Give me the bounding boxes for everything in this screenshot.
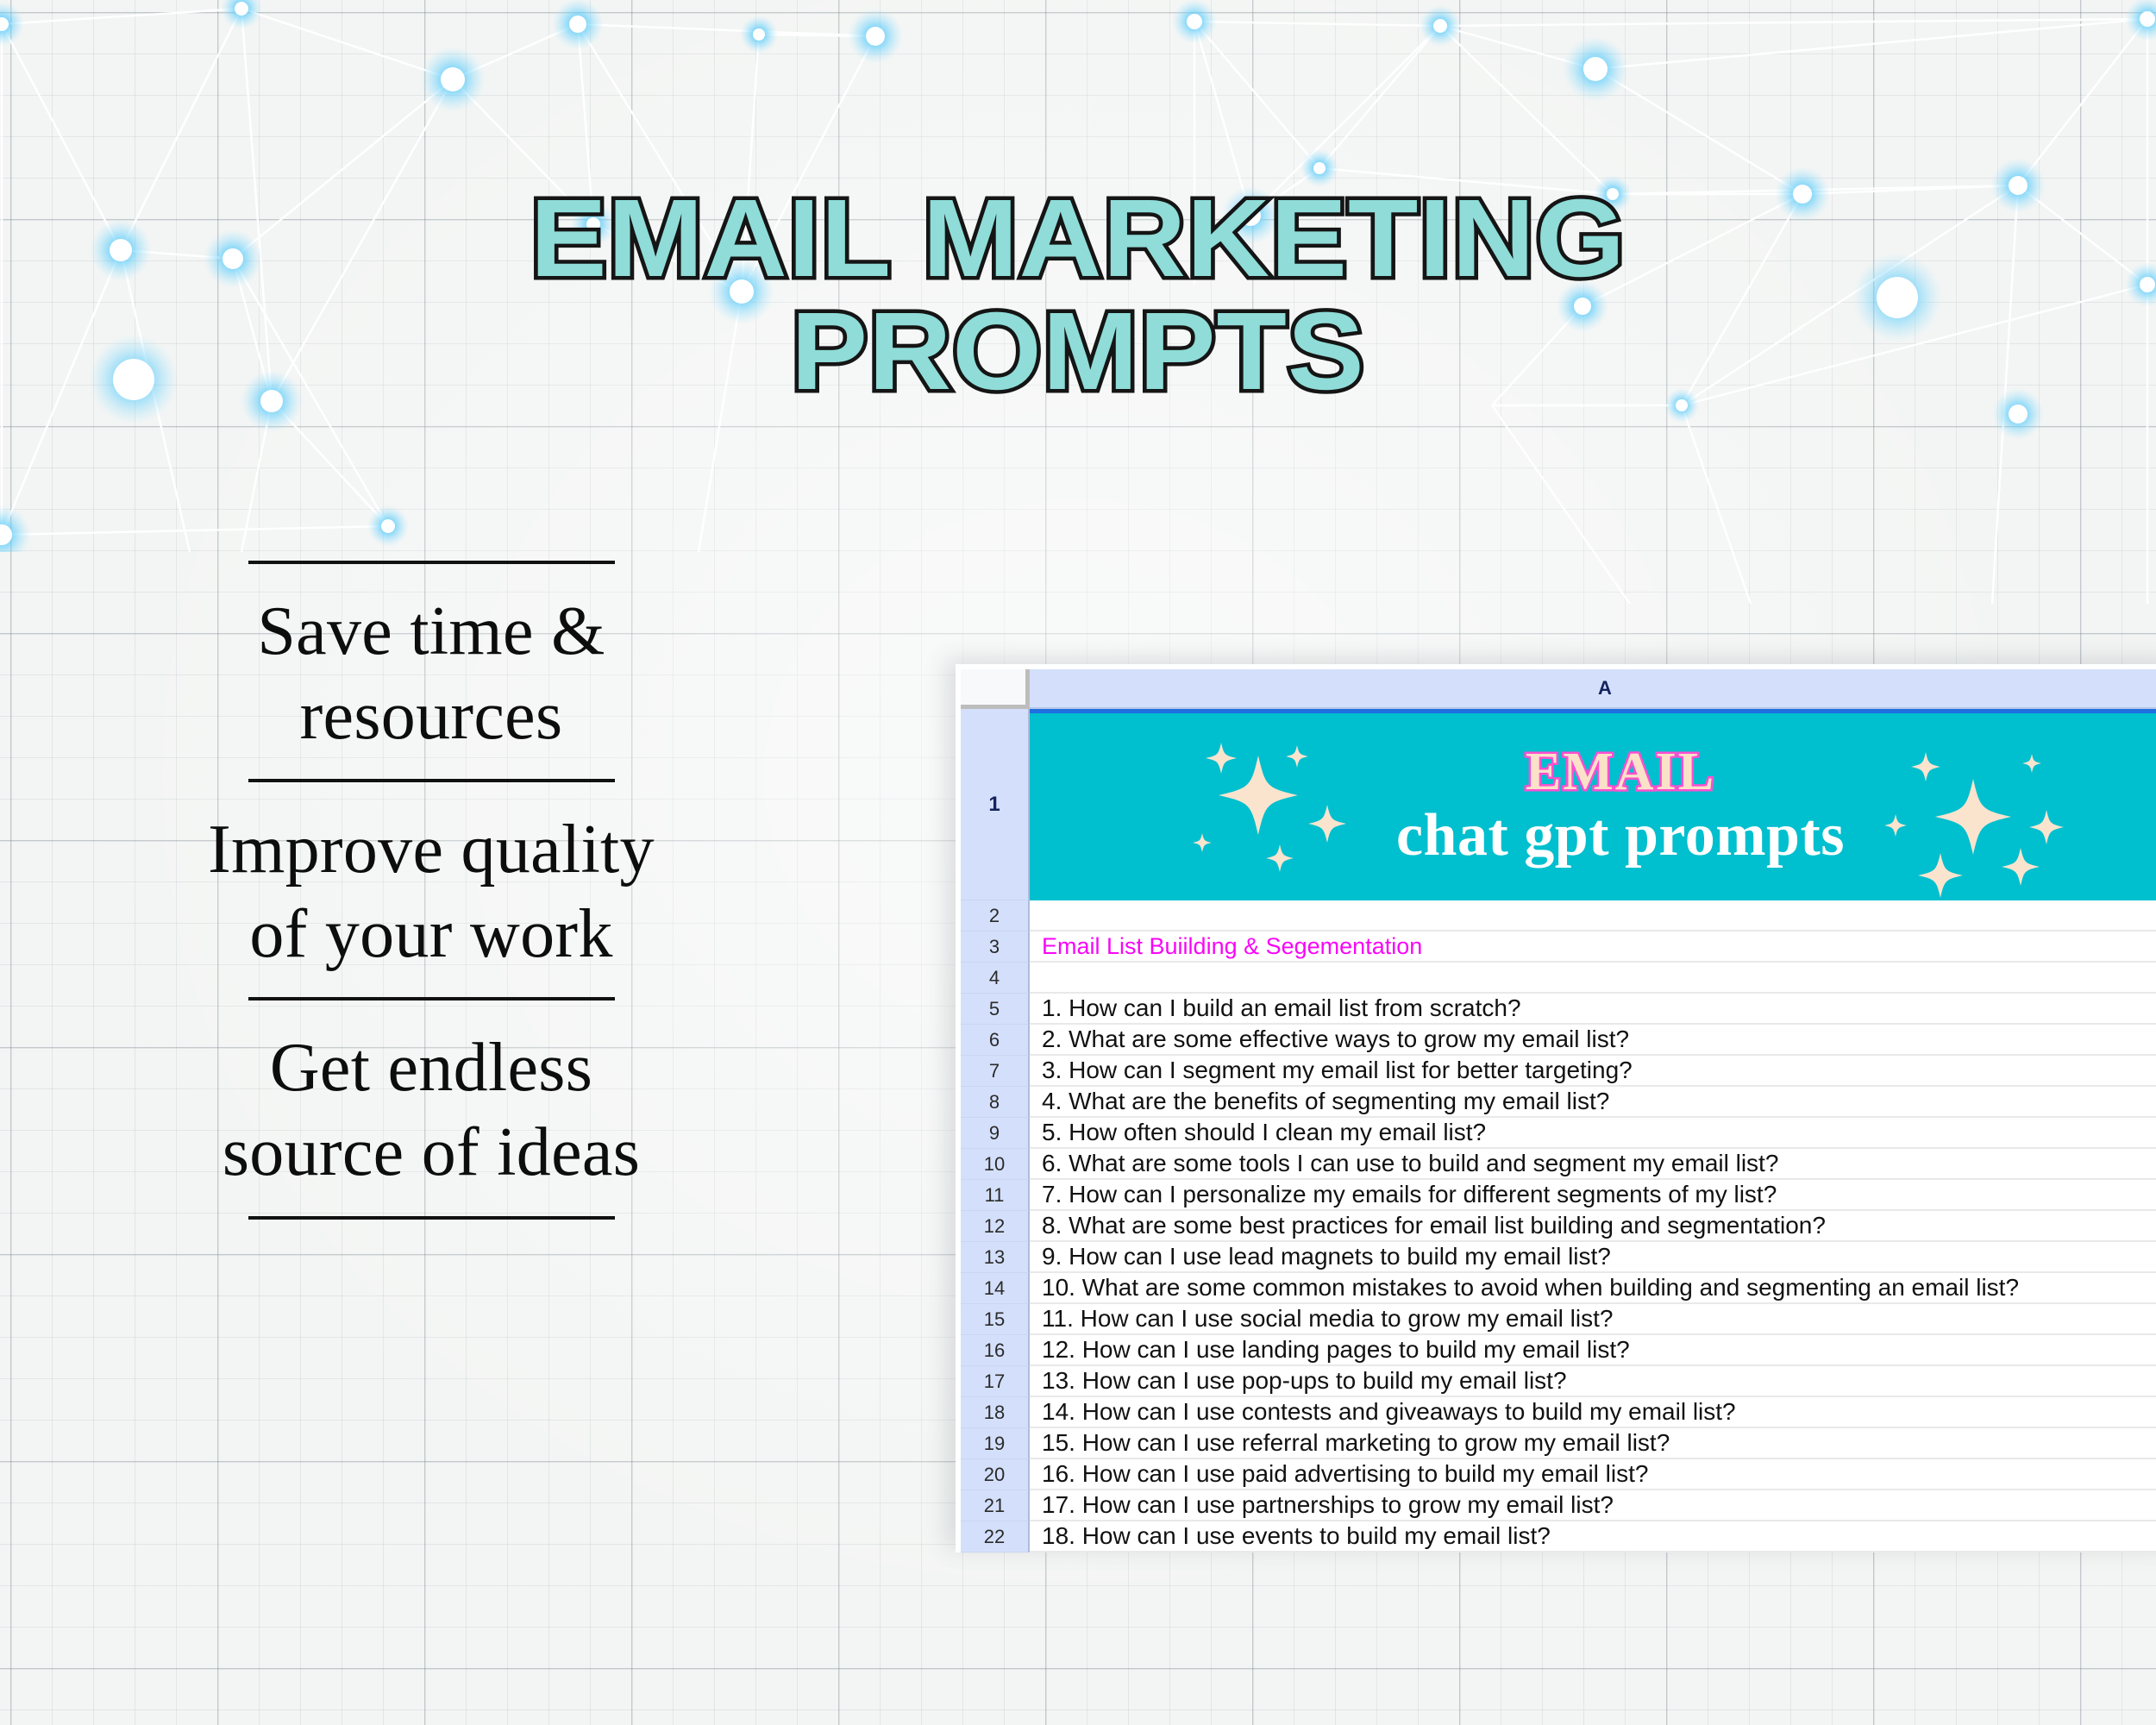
row-header[interactable]: 18	[961, 1397, 1030, 1428]
row-header[interactable]: 8	[961, 1087, 1030, 1118]
prompt-cell[interactable]: 8. What are some best practices for emai…	[1030, 1211, 2156, 1242]
prompt-cell[interactable]: 2. What are some effective ways to grow …	[1030, 1025, 2156, 1056]
row-header[interactable]: 14	[961, 1273, 1030, 1304]
row-header[interactable]: 21	[961, 1490, 1030, 1521]
benefit-item: Save time &resources	[147, 564, 716, 779]
benefits-list: Save time &resources Improve qualityof y…	[147, 561, 716, 1220]
banner-title: EMAIL	[1396, 745, 1845, 799]
spreadsheet-body: 1EMAILchat gpt prompts23Email List Buiil…	[961, 709, 2156, 1552]
row-header[interactable]: 10	[961, 1149, 1030, 1180]
prompt-cell[interactable]: 18. How can I use events to build my ema…	[1030, 1521, 2156, 1552]
table-row[interactable]: 2218. How can I use events to build my e…	[961, 1521, 2156, 1552]
row-header[interactable]: 2	[961, 900, 1030, 931]
table-row[interactable]: 1612. How can I use landing pages to bui…	[961, 1335, 2156, 1366]
row-header[interactable]: 1	[961, 709, 1030, 900]
benefit-item: Get endlesssource of ideas	[147, 1000, 716, 1215]
table-row[interactable]: 84. What are the benefits of segmenting …	[961, 1087, 2156, 1118]
empty-cell[interactable]	[1030, 963, 2156, 994]
prompt-cell[interactable]: 5. How often should I clean my email lis…	[1030, 1118, 2156, 1149]
table-row[interactable]: 139. How can I use lead magnets to build…	[961, 1242, 2156, 1273]
table-row[interactable]: 1915. How can I use referral marketing t…	[961, 1428, 2156, 1459]
row-header[interactable]: 12	[961, 1211, 1030, 1242]
prompt-cell[interactable]: 10. What are some common mistakes to avo…	[1030, 1273, 2156, 1304]
prompt-cell[interactable]: 3. How can I segment my email list for b…	[1030, 1056, 2156, 1087]
prompt-cell[interactable]: 16. How can I use paid advertising to bu…	[1030, 1459, 2156, 1490]
row-header[interactable]: 5	[961, 994, 1030, 1025]
section-heading-cell[interactable]: Email List Buiilding & Segementation	[1030, 931, 2156, 963]
page-title: EMAIL MARKETING PROMPTS	[0, 183, 2156, 408]
prompt-cell[interactable]: 7. How can I personalize my emails for d…	[1030, 1180, 2156, 1211]
table-row[interactable]: 95. How often should I clean my email li…	[961, 1118, 2156, 1149]
table-row[interactable]: 73. How can I segment my email list for …	[961, 1056, 2156, 1087]
table-row[interactable]: 4	[961, 963, 2156, 994]
table-row[interactable]: 2117. How can I use partnerships to grow…	[961, 1490, 2156, 1521]
table-row[interactable]: 3Email List Buiilding & Segementation	[961, 931, 2156, 963]
row-header[interactable]: 6	[961, 1025, 1030, 1056]
table-row[interactable]: 1EMAILchat gpt prompts	[961, 709, 2156, 900]
prompt-cell[interactable]: 11. How can I use social media to grow m…	[1030, 1304, 2156, 1335]
table-row[interactable]: 117. How can I personalize my emails for…	[961, 1180, 2156, 1211]
prompt-cell[interactable]: 12. How can I use landing pages to build…	[1030, 1335, 2156, 1366]
table-row[interactable]: 128. What are some best practices for em…	[961, 1211, 2156, 1242]
row-header[interactable]: 16	[961, 1335, 1030, 1366]
prompt-cell[interactable]: 9. How can I use lead magnets to build m…	[1030, 1242, 2156, 1273]
row-header[interactable]: 9	[961, 1118, 1030, 1149]
prompt-cell[interactable]: 1. How can I build an email list from sc…	[1030, 994, 2156, 1025]
spreadsheet[interactable]: A 1EMAILchat gpt prompts23Email List Bui…	[956, 664, 2156, 1552]
row-header[interactable]: 11	[961, 1180, 1030, 1211]
row-header[interactable]: 20	[961, 1459, 1030, 1490]
row-header[interactable]: 17	[961, 1366, 1030, 1397]
row-header[interactable]: 22	[961, 1521, 1030, 1552]
row-header[interactable]: 7	[961, 1056, 1030, 1087]
row-header[interactable]: 13	[961, 1242, 1030, 1273]
empty-cell[interactable]	[1030, 900, 2156, 931]
prompt-cell[interactable]: 17. How can I use partnerships to grow m…	[1030, 1490, 2156, 1521]
row-header[interactable]: 3	[961, 931, 1030, 963]
page-title-line-1: EMAIL MARKETING	[0, 183, 2156, 296]
row-header[interactable]: 4	[961, 963, 1030, 994]
table-row[interactable]: 62. What are some effective ways to grow…	[961, 1025, 2156, 1056]
banner-cell[interactable]: EMAILchat gpt prompts	[1030, 709, 2156, 900]
table-row[interactable]: 51. How can I build an email list from s…	[961, 994, 2156, 1025]
table-row[interactable]: 1713. How can I use pop-ups to build my …	[961, 1366, 2156, 1397]
page-title-line-2: PROMPTS	[0, 296, 2156, 409]
prompt-cell[interactable]: 6. What are some tools I can use to buil…	[1030, 1149, 2156, 1180]
banner-subtitle: chat gpt prompts	[1396, 802, 1845, 869]
row-header[interactable]: 15	[961, 1304, 1030, 1335]
prompt-cell[interactable]: 14. How can I use contests and giveaways…	[1030, 1397, 2156, 1428]
spreadsheet-column-header-row: A	[961, 669, 2156, 709]
row-header[interactable]: 19	[961, 1428, 1030, 1459]
prompt-cell[interactable]: 13. How can I use pop-ups to build my em…	[1030, 1366, 2156, 1397]
prompt-cell[interactable]: 15. How can I use referral marketing to …	[1030, 1428, 2156, 1459]
table-row[interactable]: 1410. What are some common mistakes to a…	[961, 1273, 2156, 1304]
divider-rule	[248, 1216, 615, 1220]
table-row[interactable]: 1511. How can I use social media to grow…	[961, 1304, 2156, 1335]
benefit-item: Improve qualityof your work	[147, 782, 716, 997]
column-header-a[interactable]: A	[1030, 669, 2156, 709]
table-row[interactable]: 2	[961, 900, 2156, 931]
table-row[interactable]: 2016. How can I use paid advertising to …	[961, 1459, 2156, 1490]
select-all-corner[interactable]	[961, 669, 1030, 709]
table-row[interactable]: 1814. How can I use contests and giveawa…	[961, 1397, 2156, 1428]
poster-canvas: EMAIL MARKETING PROMPTS Save time &resou…	[0, 0, 2156, 1725]
table-row[interactable]: 106. What are some tools I can use to bu…	[961, 1149, 2156, 1180]
prompt-cell[interactable]: 4. What are the benefits of segmenting m…	[1030, 1087, 2156, 1118]
